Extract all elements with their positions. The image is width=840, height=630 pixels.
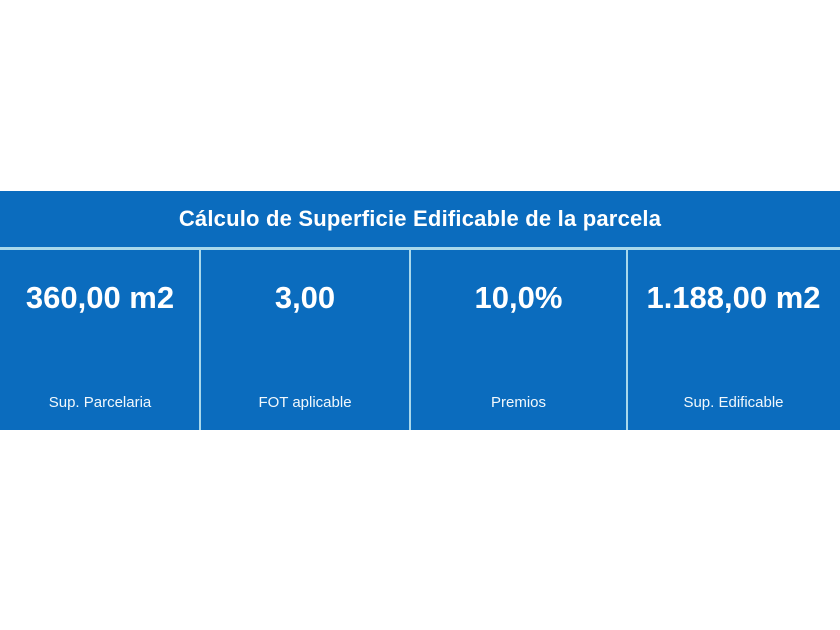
metric-cell-sup-edificable: 1.188,00 m2 Sup. Edificable	[627, 250, 840, 430]
metric-label-premios: Premios	[491, 395, 546, 410]
metric-cell-sup-parcelaria: 360,00 m2 Sup. Parcelaria	[0, 250, 200, 430]
metric-cell-fot-aplicable: 3,00 FOT aplicable	[200, 250, 410, 430]
panel-title-band: Cálculo de Superficie Edificable de la p…	[0, 191, 840, 250]
metric-value-sup-parcelaria: 360,00 m2	[26, 282, 174, 315]
metric-label-sup-parcelaria: Sup. Parcelaria	[49, 395, 152, 410]
metric-value-fot-aplicable: 3,00	[275, 282, 335, 315]
metric-label-fot-aplicable: FOT aplicable	[258, 395, 351, 410]
page-title: Cálculo de Superficie Edificable de la p…	[179, 208, 661, 230]
metric-value-sup-edificable: 1.188,00 m2	[646, 282, 820, 315]
metric-cell-premios: 10,0% Premios	[410, 250, 627, 430]
metrics-row: 360,00 m2 Sup. Parcelaria 3,00 FOT aplic…	[0, 250, 840, 430]
metric-value-premios: 10,0%	[475, 282, 563, 315]
metric-label-sup-edificable: Sup. Edificable	[683, 395, 783, 410]
surface-calculation-panel: Cálculo de Superficie Edificable de la p…	[0, 191, 840, 430]
